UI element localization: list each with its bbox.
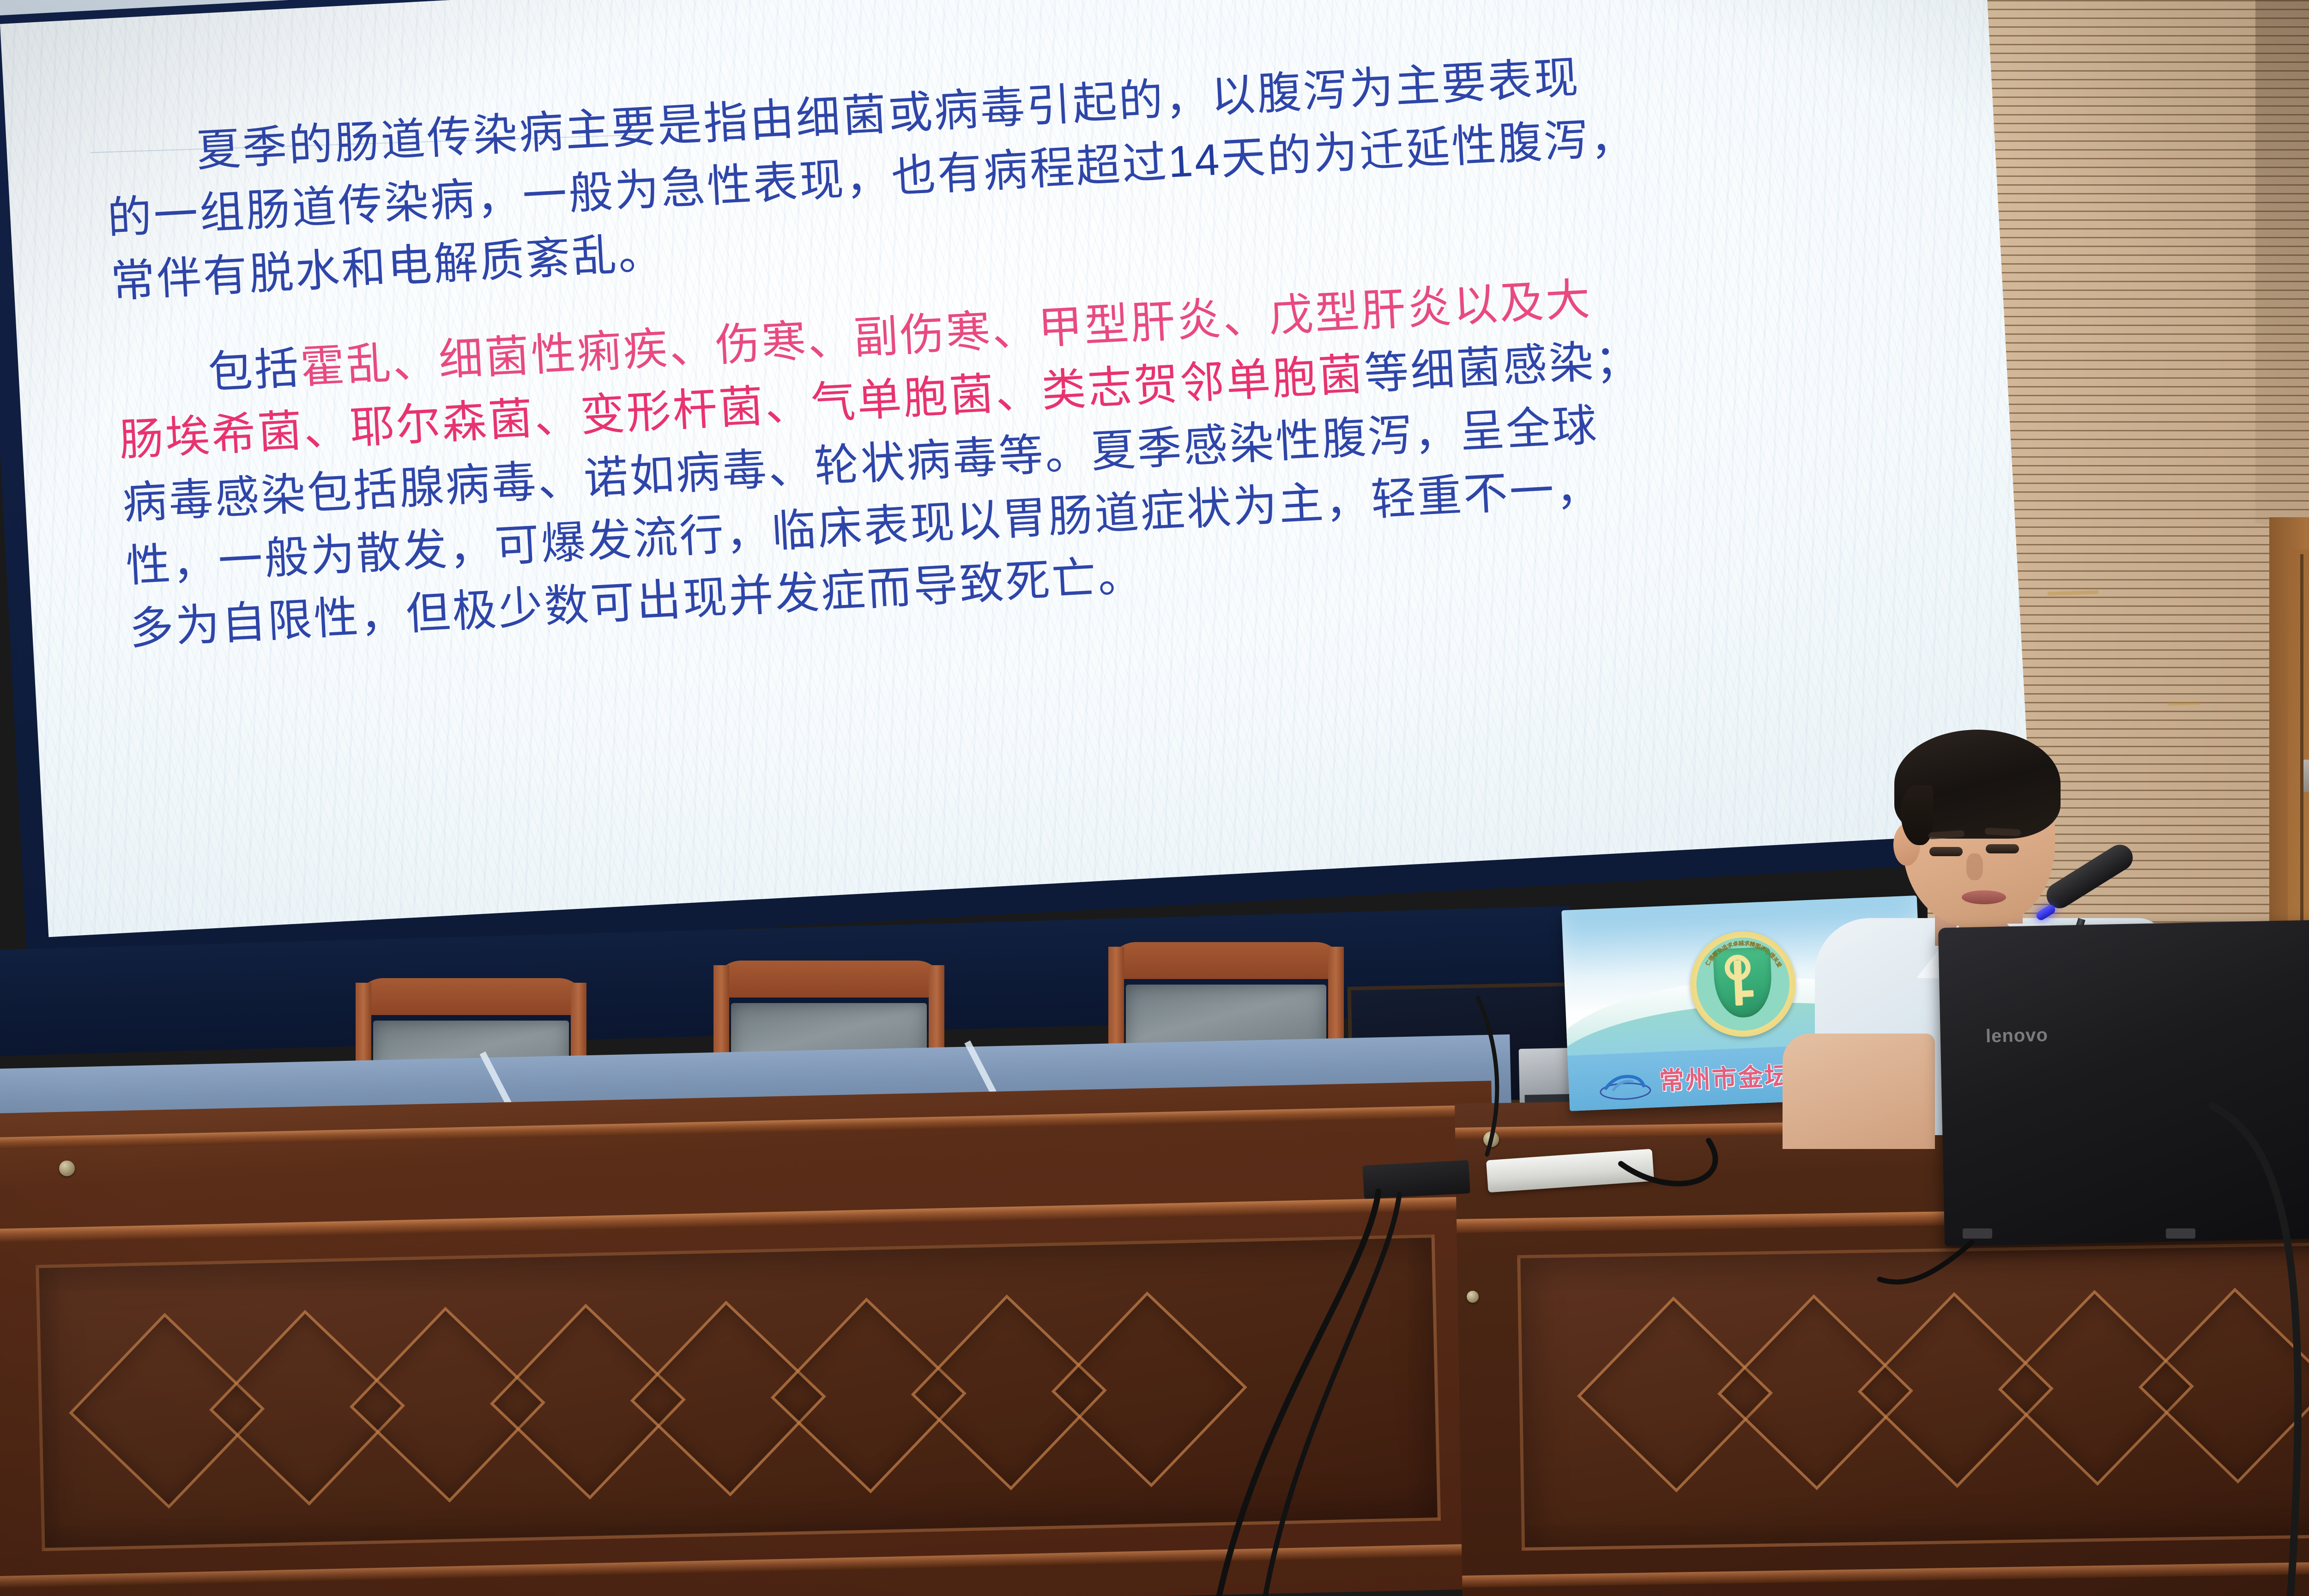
laptop-lid[interactable] <box>1938 919 2309 1246</box>
podium-front-left <box>0 1081 1502 1596</box>
podium-base-molding <box>0 1543 1502 1589</box>
podium-molding <box>0 1105 1492 1150</box>
chair-back-rail <box>1108 942 1344 979</box>
slide-paragraph-2: 包括霍乱、细菌性痢疾、伤寒、副伤寒、甲型肝炎、戊型肝炎以及大 肠埃希菌、耶尔森菌… <box>115 250 1944 661</box>
laptop-brand-logo: lenovo <box>1986 1024 2074 1046</box>
podium-diamond-carving <box>2139 1288 2309 1483</box>
laptop-hinge-foot <box>2166 1228 2195 1239</box>
cdc-swoosh-icon <box>1597 1069 1654 1102</box>
desk-connector-block[interactable] <box>1362 1160 1470 1199</box>
podium-screw-cap <box>1483 1131 1499 1147</box>
lecture-hall-scene: 夏季的肠道传染病主要是指由细菌或病毒引起的，以腹泻为主要表现 的一组肠道传染病，… <box>0 0 2309 1596</box>
podium-base-molding <box>1462 1560 2309 1588</box>
podium-diamond-carving <box>1052 1291 1247 1487</box>
door-hinge-icon <box>2303 760 2309 792</box>
podium-screw-cap <box>59 1161 75 1176</box>
podium-recessed-panel <box>36 1234 1441 1551</box>
wall-shadow <box>2255 0 2309 545</box>
presenter-eye <box>1929 847 1963 856</box>
presenter-nose <box>1966 853 1983 880</box>
laptop-hinge-foot <box>1963 1228 1992 1239</box>
podium-screw-cap <box>1467 1291 1479 1303</box>
slide-content: 夏季的肠道传染病主要是指由细菌或病毒引起的，以腹泻为主要表现 的一组肠道传染病，… <box>103 28 1945 694</box>
presenter-arm <box>1783 1034 1935 1149</box>
presenter-mouth <box>1962 890 2006 904</box>
chair-back-rail <box>713 961 944 997</box>
podium-molding <box>0 1196 1494 1243</box>
chair-back-rail <box>356 978 586 1015</box>
presenter-hair <box>1894 730 2061 839</box>
projection-screen: 夏季的肠道传染病主要是指由细菌或病毒引起的，以腹泻为主要表现 的一组肠道传染病，… <box>0 0 2031 937</box>
presenter-eye <box>1986 844 2019 853</box>
podium-recessed-panel <box>1517 1242 2309 1551</box>
